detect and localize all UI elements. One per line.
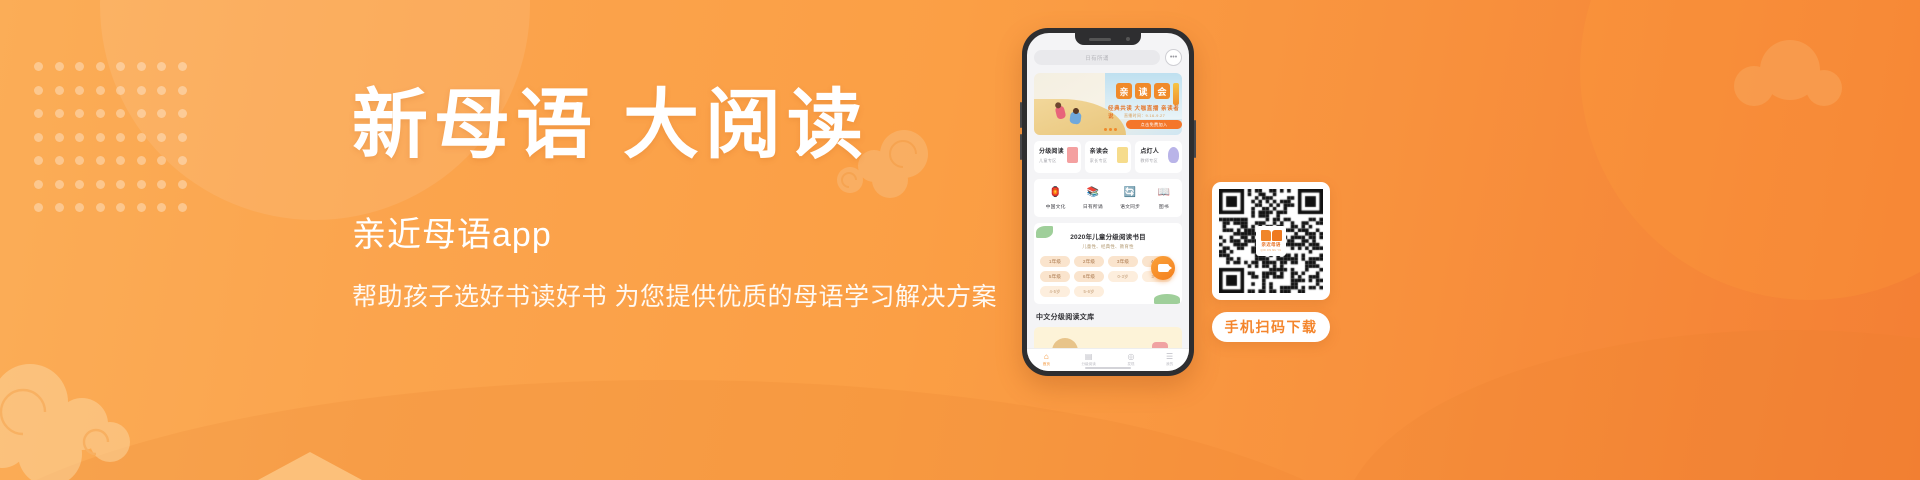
ellipsis-icon[interactable]: ••• [1165, 49, 1182, 66]
library-title: 中文分级阅读文库 [1034, 312, 1182, 322]
decor-dot-grid [34, 62, 198, 227]
decor-arc-bottom [0, 380, 1420, 480]
nav-item-label: 日有所诵 [1083, 203, 1103, 210]
booklist-subtitle: 儿童性、经典性、教育性 [1040, 244, 1176, 250]
download-button[interactable]: 手机扫码下载 [1212, 312, 1330, 342]
nav-item-lantern[interactable]: 🏮中国文化 [1046, 187, 1066, 210]
app-nav-icon-row: 🏮中国文化📚日有所诵🔄语文同步📖图书 [1034, 179, 1182, 217]
nav-item-sync[interactable]: 🔄语文同步 [1120, 187, 1140, 210]
tabbar-item[interactable]: ◎发现 [1127, 353, 1134, 367]
nav-item-book[interactable]: 📖图书 [1157, 187, 1170, 210]
grade-chip[interactable]: 6年级 [1074, 271, 1104, 282]
phone-screen: 日有所诵 ••• 亲 读 会 经典共读 大咖直播 亲读者说 直播时间：9.16-… [1027, 33, 1189, 371]
tabbar-item[interactable]: ⌂首页 [1043, 353, 1050, 367]
booklist-chip-group: 1年级2年级3年级4年级5年级6年级0-3岁3-4岁4-5岁5-6岁 [1040, 256, 1176, 297]
banner-flag-icon [1173, 83, 1179, 105]
hero-subtitle: 亲近母语app [352, 218, 1052, 252]
hero-copy: 新母语 大阅读 亲近母语app 帮助孩子选好书读好书 为您提供优质的母语学习解决… [352, 88, 1052, 310]
decor-cloud-bottom-left [0, 350, 180, 480]
decor-arc-bottom-right [1340, 330, 1920, 480]
sync-icon: 🔄 [1124, 187, 1137, 200]
app-banner-date: 直播时间：9.16-9.27 [1124, 113, 1165, 119]
nav-item-label: 语文同步 [1120, 203, 1140, 210]
phone-mockup: 日有所诵 ••• 亲 读 会 经典共读 大咖直播 亲读者说 直播时间：9.16-… [1022, 28, 1194, 376]
grade-chip[interactable]: 3年级 [1108, 256, 1138, 267]
nav-item-book-stack[interactable]: 📚日有所诵 [1083, 187, 1103, 210]
entry-card-3[interactable]: 点灯人教师专区 [1135, 141, 1182, 173]
app-booklist-card[interactable]: 2020年儿童分级阅读书目 儿童性、经典性、教育性 1年级2年级3年级4年级5年… [1034, 223, 1182, 304]
age-chip[interactable]: 4-5岁 [1040, 286, 1070, 297]
entry-card-2[interactable]: 亲读会家长专区 [1085, 141, 1132, 173]
bookmark-red-icon [1067, 147, 1078, 163]
bookmark-yellow-icon [1117, 147, 1128, 163]
app-entry-card-row: 分级阅读儿童专区亲读会家长专区点灯人教师专区 [1034, 141, 1182, 173]
age-chip[interactable]: 0-3岁 [1108, 271, 1138, 282]
phone-button-volume-up [1020, 102, 1022, 128]
carousel-dots[interactable] [1104, 128, 1117, 131]
page-title: 新母语 大阅读 [352, 88, 1052, 164]
phone-button-power [1194, 120, 1196, 158]
banner-char-1: 亲 [1116, 83, 1132, 99]
promo-banner: 新母语 大阅读 亲近母语app 帮助孩子选好书读好书 为您提供优质的母语学习解决… [0, 0, 1920, 480]
phone-button-volume-down [1020, 134, 1022, 160]
banner-char-2: 读 [1135, 83, 1151, 99]
qr-code[interactable]: 亲近母语 QIN JIN MU YU [1212, 182, 1330, 300]
home-indicator [1085, 367, 1131, 369]
app-search-row: 日有所诵 ••• [1034, 49, 1182, 66]
book-icon: 📖 [1157, 187, 1170, 200]
nav-item-label: 图书 [1159, 203, 1169, 210]
entry-card-1[interactable]: 分级阅读儿童专区 [1034, 141, 1081, 173]
banner-char-3: 会 [1154, 83, 1170, 99]
grade-chip[interactable]: 2年级 [1074, 256, 1104, 267]
grade-chip[interactable]: 5年级 [1040, 271, 1070, 282]
grade-chip[interactable]: 1年级 [1040, 256, 1070, 267]
app-promo-banner[interactable]: 亲 读 会 经典共读 大咖直播 亲读者说 直播时间：9.16-9.27 点击免费… [1034, 73, 1182, 135]
tabbar-item[interactable]: ▤分级阅读 [1081, 353, 1095, 367]
download-block: 亲近母语 QIN JIN MU YU 手机扫码下载 [1212, 182, 1330, 342]
lantern-icon: 🏮 [1049, 187, 1062, 200]
play-video-icon[interactable] [1151, 256, 1175, 280]
bookmark-purple-icon [1168, 147, 1179, 163]
decor-cloud-top-right [1730, 30, 1850, 120]
phone-notch [1075, 33, 1141, 45]
hero-tagline: 帮助孩子选好书读好书 为您提供优质的母语学习解决方案 [352, 285, 1052, 310]
booklist-title: 2020年儿童分级阅读书目 [1040, 231, 1176, 241]
qr-logo-pinyin: QIN JIN MU YU [1261, 249, 1282, 252]
age-chip[interactable]: 5-6岁 [1074, 286, 1104, 297]
book-stack-icon: 📚 [1086, 187, 1099, 200]
qr-logo-name: 亲近母语 [1261, 242, 1280, 248]
app-banner-cta-button[interactable]: 点击免费加入 [1126, 120, 1182, 129]
search-input[interactable]: 日有所诵 [1034, 50, 1160, 65]
nav-item-label: 中国文化 [1046, 203, 1066, 210]
qr-logo: 亲近母语 QIN JIN MU YU [1256, 226, 1286, 256]
tabbar-item[interactable]: ☰我的 [1166, 353, 1173, 367]
app-banner-title: 亲 读 会 [1116, 83, 1179, 105]
